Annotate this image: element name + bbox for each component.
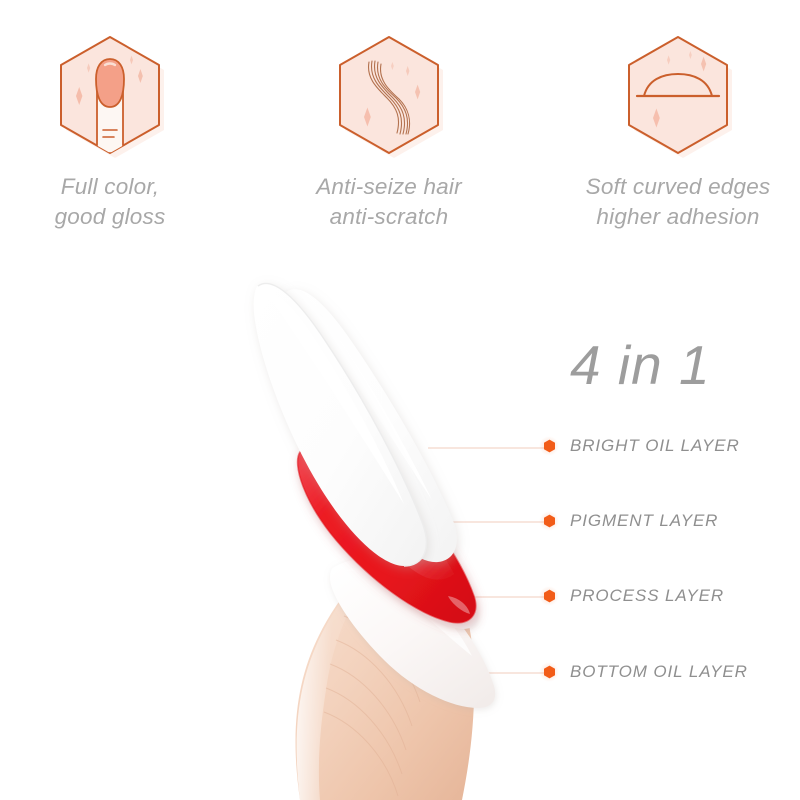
curved-edge-dome-icon: [622, 34, 734, 156]
layer-label: PIGMENT LAYER: [570, 511, 718, 531]
feature-highlights-row: Full color, good gloss: [0, 0, 800, 265]
feature-caption: Soft curved edges higher adhesion: [553, 172, 800, 232]
feature-caption: Full color, good gloss: [0, 172, 235, 232]
bright-oil-layer-upper-tip: [254, 283, 427, 566]
hexagon-bullet-icon: [536, 508, 562, 534]
hexagon-bullet-icon: [536, 433, 562, 459]
process-layer: [301, 459, 478, 629]
bottom-oil-layer: [330, 559, 495, 708]
layer-label: BRIGHT OIL LAYER: [570, 436, 740, 456]
layer-label: BOTTOM OIL LAYER: [570, 662, 748, 682]
pigment-layer: [298, 443, 476, 622]
feature-item-full-color: Full color, good gloss: [0, 34, 235, 232]
hexagon-bullet-icon: [536, 659, 562, 685]
layer-legend-item-pigment[interactable]: PIGMENT LAYER: [536, 510, 718, 532]
layer-legend-item-process[interactable]: PROCESS LAYER: [536, 585, 724, 607]
finger-skin: [296, 553, 475, 800]
layer-legend-item-bottom-oil[interactable]: BOTTOM OIL LAYER: [536, 661, 748, 683]
feature-item-anti-seize-hair: Anti-seize hair anti-scratch: [264, 34, 514, 232]
layer-label: PROCESS LAYER: [570, 586, 724, 606]
fingernail-icon: [54, 34, 166, 156]
four-in-one-callout-panel: 4 in 1 BRIGHT OIL LAYER PIGMENT LAYER PR…: [536, 336, 800, 696]
page-title: 4 in 1: [570, 336, 711, 394]
hexagon-bullet-icon: [536, 583, 562, 609]
wavy-hair-strands-icon: [333, 34, 445, 156]
feature-caption: Anti-seize hair anti-scratch: [264, 172, 514, 232]
feature-item-soft-curved-edges: Soft curved edges higher adhesion: [553, 34, 800, 232]
connector-lines: [420, 448, 548, 673]
bright-oil-layer-lower-tip: [282, 289, 457, 562]
layer-legend-item-bright-oil[interactable]: BRIGHT OIL LAYER: [536, 435, 740, 457]
